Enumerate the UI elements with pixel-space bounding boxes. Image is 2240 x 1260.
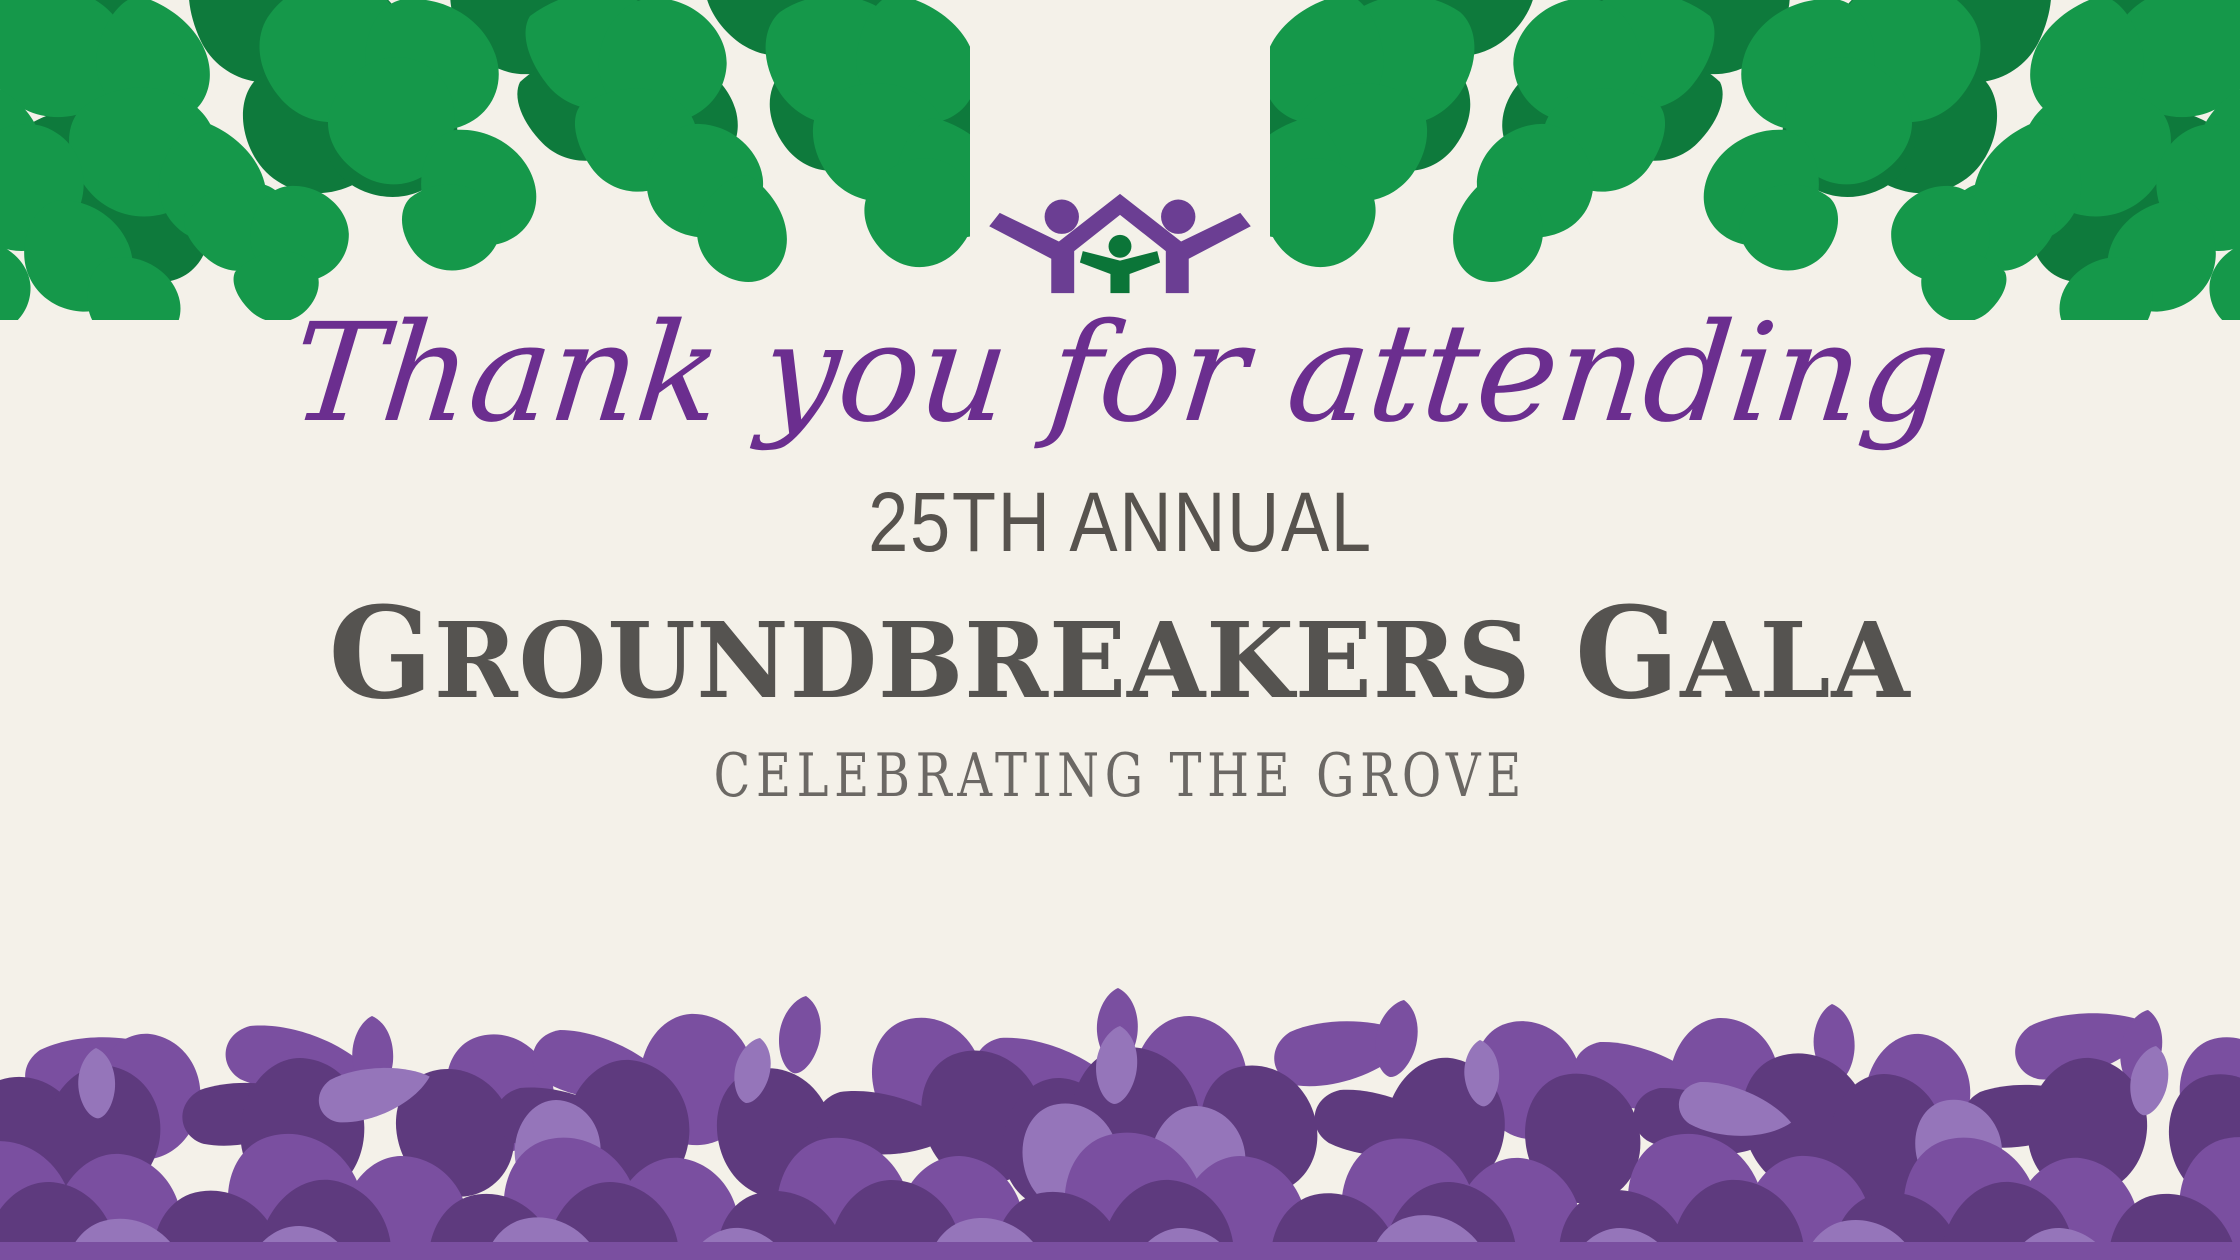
title-cap-rest-1: ROUNDBREAKERS [434,599,1532,722]
title-cap-lead-2: G [1575,579,1680,727]
annual-label: 25TH ANNUAL [868,480,1373,564]
title-word-groundbreakers: GROUNDBREAKERS [329,579,1532,727]
title-cap-lead-1: G [329,579,434,727]
title-word-gala: GALA [1575,579,1911,727]
script-headline: Thank you for attending [285,303,1955,446]
family-figures-logo [985,190,1255,295]
gala-banner: Thank you for attending 25TH ANNUAL GROU… [0,0,2240,1260]
page-title: GROUNDBREAKERS GALA [329,590,1911,716]
page-subtitle: CELEBRATING THE GROVE [713,746,1526,806]
logo-adult-left [989,194,1120,293]
logo-child-center [1080,235,1160,293]
title-cap-rest-2: ALA [1681,599,1911,722]
banner-content: Thank you for attending 25TH ANNUAL GROU… [0,0,2240,1260]
logo-adult-right [1120,194,1251,293]
